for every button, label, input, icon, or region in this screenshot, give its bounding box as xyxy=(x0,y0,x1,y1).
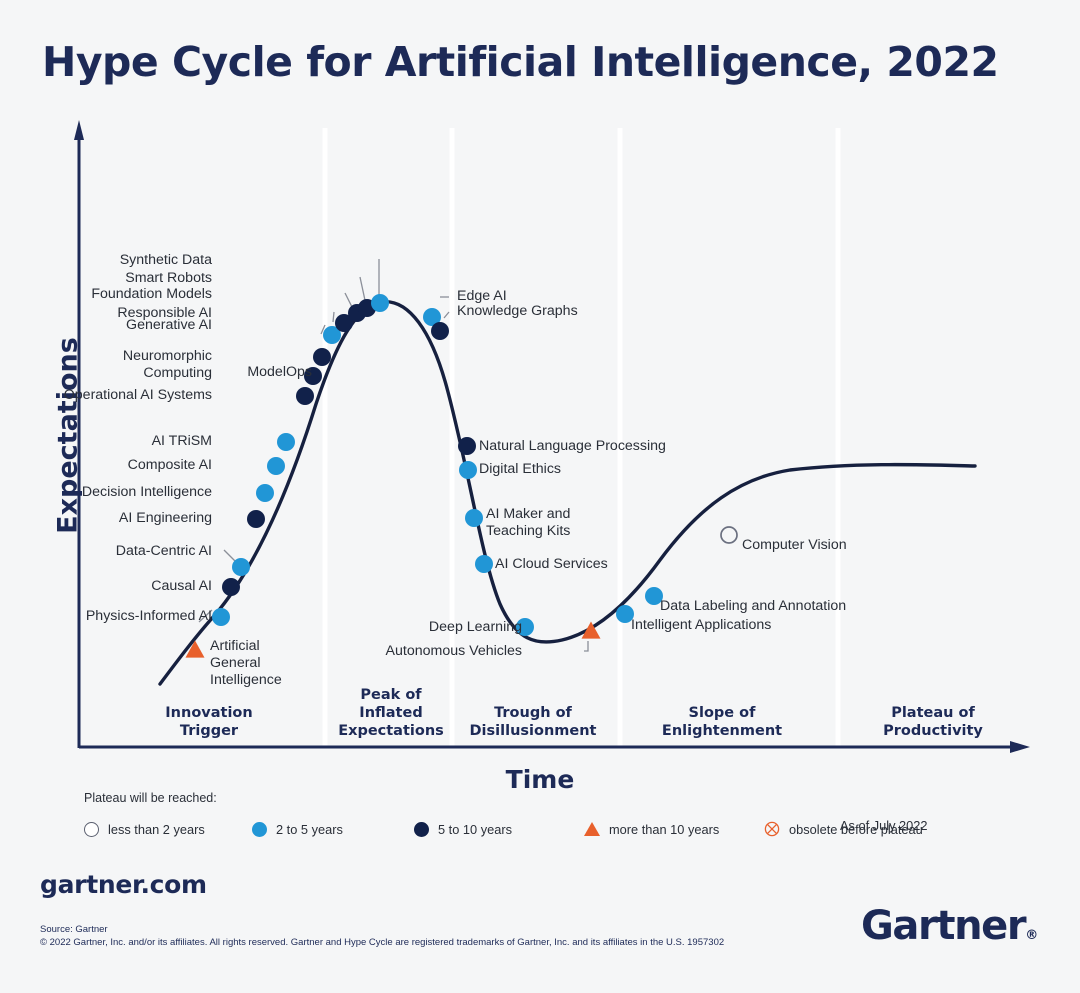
crossed-circle-icon xyxy=(764,821,780,837)
legend-item-2-to-5-years[interactable]: 2 to 5 years xyxy=(252,816,343,842)
phase-label-slope-of-enlightenment: Slope of Enlightenment xyxy=(612,704,832,740)
point-label-composite-ai: Composite AI xyxy=(0,457,212,474)
data-point-marker[interactable]: Digital Ethics xyxy=(459,461,477,479)
data-point-marker[interactable]: Knowledge Graphs xyxy=(431,322,449,340)
point-label-autonomous-vehicles: Autonomous Vehicles xyxy=(0,643,522,660)
leader-line xyxy=(333,312,334,322)
data-point-marker[interactable]: Operational AI Systems xyxy=(296,387,314,405)
point-label-operational-ai-systems: Operational AI Systems xyxy=(0,387,212,404)
data-point-marker[interactable]: Composite AI xyxy=(267,457,285,475)
point-label-synthetic-data: Synthetic Data xyxy=(0,252,212,269)
hype-cycle-infographic: Hype Cycle for Artificial Intelligence, … xyxy=(0,0,1080,993)
data-point-marker[interactable]: AI Cloud Services xyxy=(475,555,493,573)
x-axis-arrow xyxy=(1010,741,1030,753)
legend-item-label: less than 2 years xyxy=(108,822,205,837)
point-label-smart-robots: Smart Robots xyxy=(0,270,212,287)
point-label-natural-language-processing: Natural Language Processing xyxy=(479,438,666,455)
data-point-marker[interactable]: Data-Centric AI xyxy=(232,558,250,576)
point-label-causal-ai: Causal AI xyxy=(0,578,212,595)
x-axis-title: Time xyxy=(0,765,1080,794)
data-point-marker[interactable]: Synthetic Data xyxy=(371,294,389,312)
leader-line xyxy=(584,641,588,651)
data-point-marker[interactable]: Computer Vision xyxy=(721,527,737,543)
point-label-data-labeling-and-annotation: Data Labeling and Annotation xyxy=(660,598,846,615)
legend-item-label: more than 10 years xyxy=(609,822,719,837)
open-circle-icon xyxy=(84,822,99,837)
point-label-data-centric-ai: Data-Centric AI xyxy=(0,543,212,560)
gartner-logo-text: Gartner xyxy=(861,903,1025,949)
gartner-logo: Gartner® xyxy=(861,903,1038,949)
point-label-neuromorphic-computing: Neuromorphic Computing xyxy=(0,348,212,382)
data-point-marker[interactable]: Neuromorphic Computing xyxy=(313,348,331,366)
leader-line xyxy=(224,550,235,561)
point-label-computer-vision: Computer Vision xyxy=(742,537,847,554)
as-of-date: As of July 2022 xyxy=(840,818,928,833)
phase-label-trough-of-disillusionment: Trough of Disillusionment xyxy=(423,704,643,740)
leader-line xyxy=(444,312,449,318)
data-point-marker[interactable]: Decision Intelligence xyxy=(256,484,274,502)
legend-title: Plateau will be reached: xyxy=(84,791,217,805)
legend-item-more-than-10-years[interactable]: more than 10 years xyxy=(584,816,719,842)
source-note: Source: Gartner xyxy=(40,923,108,936)
point-label-intelligent-applications: Intelligent Applications xyxy=(631,617,771,634)
light-blue-dot-icon xyxy=(252,822,267,837)
chart-plot-area: Artificial General IntelligencePhysics-I… xyxy=(0,0,1080,800)
point-label-ai-maker-and-teaching-kits: AI Maker and Teaching Kits xyxy=(486,506,570,540)
point-label-ai-trism: AI TRiSM xyxy=(0,433,212,450)
point-label-knowledge-graphs: Knowledge Graphs xyxy=(457,303,578,320)
data-point-markers: Artificial General IntelligencePhysics-I… xyxy=(186,294,738,658)
legend-item-label: 5 to 10 years xyxy=(438,822,512,837)
copyright-note: © 2022 Gartner, Inc. and/or its affiliat… xyxy=(40,936,724,949)
phase-label-plateau-of-productivity: Plateau of Productivity xyxy=(823,704,1043,740)
data-point-marker[interactable]: AI Maker and Teaching Kits xyxy=(465,509,483,527)
legend-item-label: 2 to 5 years xyxy=(276,822,343,837)
point-label-responsible-ai: Responsible AI xyxy=(0,305,212,322)
legend-item-5-to-10-years[interactable]: 5 to 10 years xyxy=(414,816,512,842)
data-point-marker[interactable]: Causal AI xyxy=(222,578,240,596)
data-point-marker[interactable]: AI Engineering xyxy=(247,510,265,528)
gartner-site-link[interactable]: gartner.com xyxy=(40,870,207,899)
y-axis-arrow xyxy=(74,120,84,140)
dark-blue-dot-icon xyxy=(414,822,429,837)
point-label-ai-engineering: AI Engineering xyxy=(0,510,212,527)
point-label-decision-intelligence: Decision Intelligence xyxy=(0,484,212,501)
orange-triangle-icon xyxy=(584,822,600,836)
legend-item-less-than-2-years[interactable]: less than 2 years xyxy=(84,816,205,842)
point-label-deep-learning: Deep Learning xyxy=(0,619,522,636)
point-label-foundation-models: Foundation Models xyxy=(0,286,212,303)
data-point-marker[interactable]: Natural Language Processing xyxy=(458,437,476,455)
point-label-digital-ethics: Digital Ethics xyxy=(479,461,561,478)
point-label-ai-cloud-services: AI Cloud Services xyxy=(495,556,608,573)
registered-mark-icon: ® xyxy=(1025,928,1038,943)
data-point-marker[interactable]: AI TRiSM xyxy=(277,433,295,451)
